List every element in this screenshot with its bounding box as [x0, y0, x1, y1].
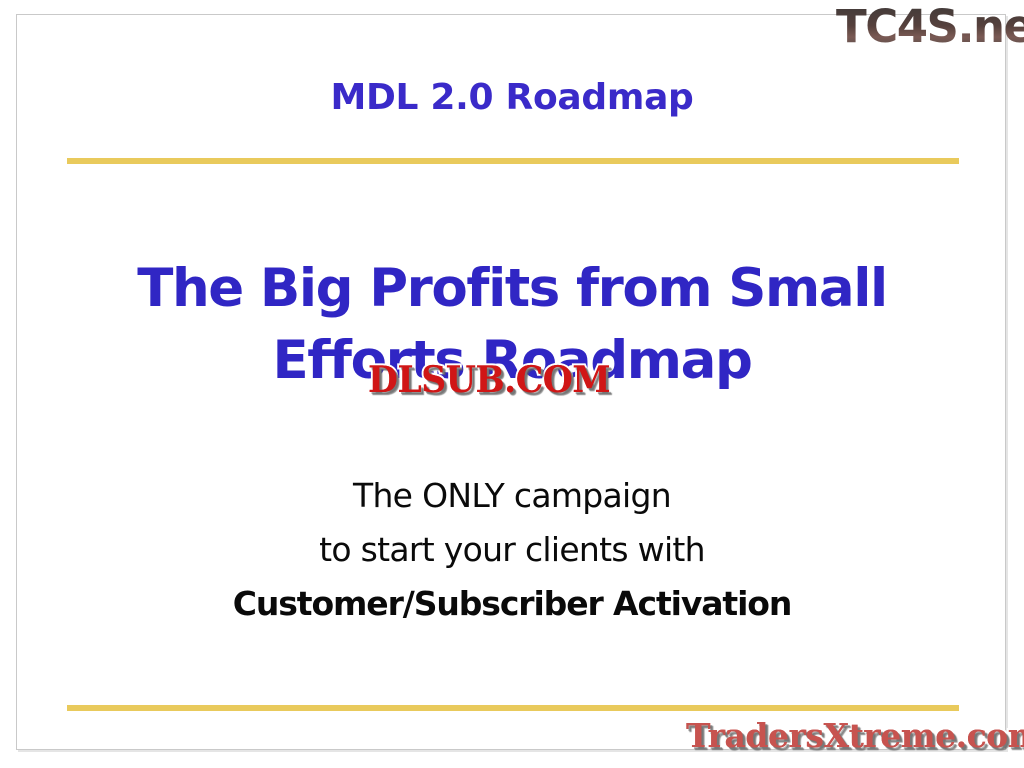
watermark-tradersxtreme-fill: TradersXtreme.com: [686, 716, 1024, 755]
divider-top: [67, 158, 959, 164]
watermark-tc4s: TC4S.net: [836, 0, 1024, 53]
subheading-line-3: Customer/Subscriber Activation: [17, 577, 1007, 631]
page-title: MDL 2.0 Roadmap: [17, 77, 1007, 118]
headline-line-1: The Big Profits from Small: [17, 253, 1007, 325]
watermark-dlsub-fill: DLSUB.COM: [368, 359, 610, 401]
divider-bottom: [67, 705, 959, 711]
subheading-line-1: The ONLY campaign: [17, 469, 1007, 523]
slide-canvas: MDL 2.0 Roadmap The Big Profits from Sma…: [0, 0, 1024, 768]
subheading-line-2: to start your clients with: [17, 523, 1007, 577]
subheading: The ONLY campaign to start your clients …: [17, 469, 1007, 631]
watermark-tradersxtreme: TradersXtreme.com TradersXtreme.com: [686, 716, 1024, 755]
watermark-dlsub: DLSUB.COM DLSUB.COM: [368, 359, 610, 401]
